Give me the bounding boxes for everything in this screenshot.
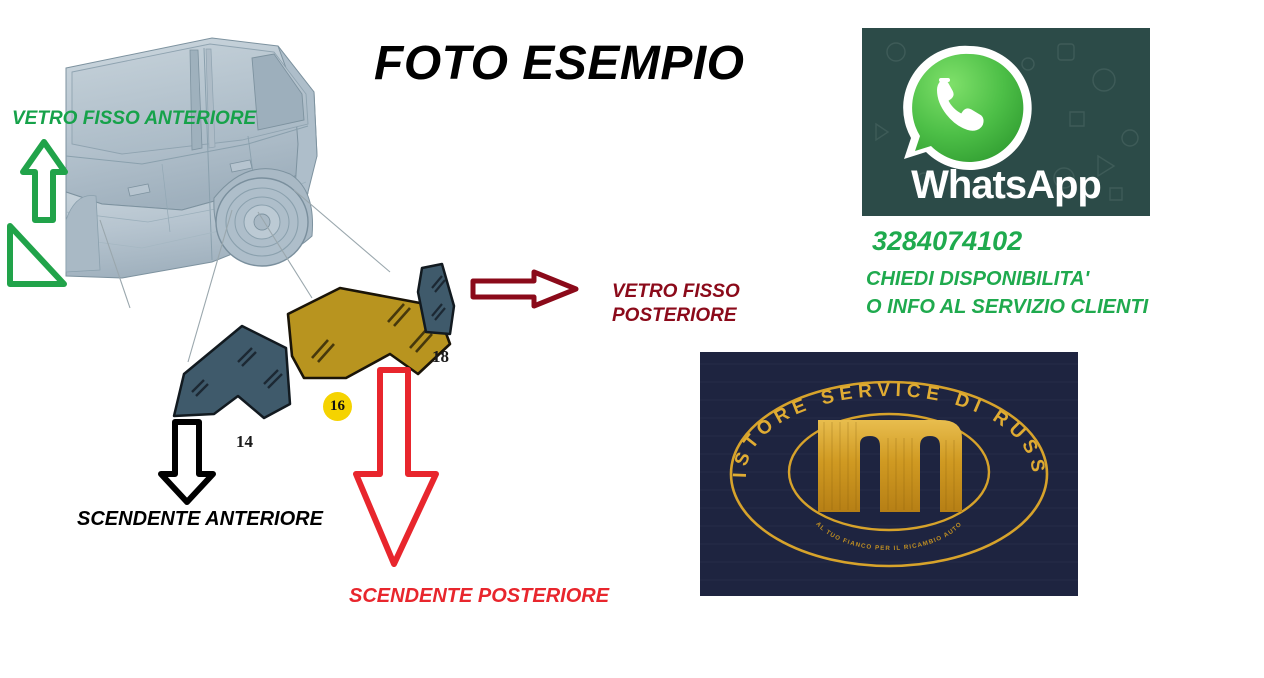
company-logo-monogram (818, 420, 962, 512)
label-vetro-fisso-posteriore-line2: POSTERIORE (612, 304, 740, 328)
darkred-right-arrow-icon (470, 268, 580, 315)
label-scendente-anteriore: SCENDENTE ANTERIORE (77, 508, 323, 531)
label-scendente-posteriore: SCENDENTE POSTERIORE (349, 585, 609, 608)
red-down-arrow-icon (352, 366, 458, 575)
page-title: FOTO ESEMPIO (374, 36, 745, 91)
label-vetro-fisso-posteriore-line1: VETRO FISSO (612, 280, 740, 304)
part-18-glass (412, 262, 460, 340)
black-down-arrow-icon (156, 418, 218, 511)
whatsapp-wordmark: WhatsApp (862, 163, 1150, 208)
contact-line-1: CHIEDI DISPONIBILITA' (866, 268, 1089, 291)
whatsapp-banner: WhatsApp (862, 28, 1150, 216)
callout-18: 18 (432, 347, 449, 367)
callout-16-badge: 16 (323, 392, 352, 421)
label-vetro-fisso-posteriore: VETRO FISSO POSTERIORE (612, 280, 740, 328)
whatsapp-logo-icon (903, 46, 1032, 170)
label-vetro-fisso-anteriore: VETRO FISSO ANTERIORE (12, 108, 256, 130)
green-up-arrow-icon (20, 138, 68, 229)
company-logo: MRICAMBISTORE SERVICE DI RUSSO MARCO AL … (700, 352, 1078, 596)
green-triangle-icon (4, 222, 70, 295)
contact-line-2: O INFO AL SERVIZIO CLIENTI (866, 296, 1148, 319)
callout-14: 14 (236, 432, 253, 452)
phone-number[interactable]: 3284074102 (872, 226, 1022, 257)
